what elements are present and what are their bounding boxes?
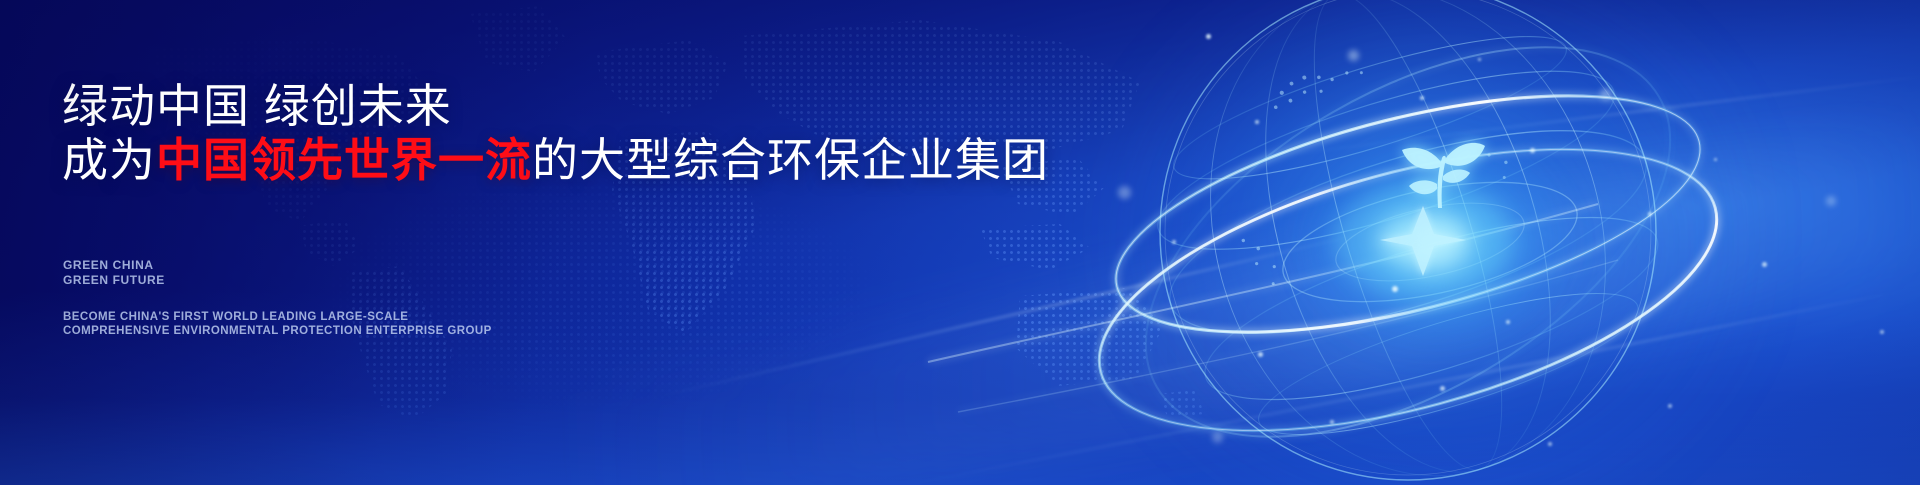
mission-english: BECOME CHINA'S FIRST WORLD LEADING LARGE…	[63, 310, 492, 338]
headline-primary: 绿动中国 绿创未来	[62, 78, 452, 134]
mission-english-line-1: BECOME CHINA'S FIRST WORLD LEADING LARGE…	[63, 310, 492, 324]
headline-suffix: 的大型综合环保企业集团	[532, 134, 1049, 186]
slogan-english-line-2: GREEN FUTURE	[63, 273, 165, 288]
headline-highlight: 中国领先世界一流	[156, 134, 532, 186]
headline-secondary: 成为中国领先世界一流的大型综合环保企业集团	[62, 132, 1049, 188]
wireframe-globe	[1078, 0, 1738, 485]
slogan-english: GREEN CHINA GREEN FUTURE	[63, 258, 165, 288]
banner-text-block: 绿动中国 绿创未来 成为中国领先世界一流的大型综合环保企业集团 GREEN CH…	[62, 0, 1062, 485]
headline-prefix: 成为	[62, 134, 156, 186]
sprout-leaf-icon	[1392, 128, 1488, 212]
slogan-english-line-1: GREEN CHINA	[63, 258, 165, 273]
hero-banner: 绿动中国 绿创未来 成为中国领先世界一流的大型综合环保企业集团 GREEN CH…	[0, 0, 1920, 485]
particle	[1880, 330, 1884, 334]
mission-english-line-2: COMPREHENSIVE ENVIRONMENTAL PROTECTION E…	[63, 324, 492, 338]
